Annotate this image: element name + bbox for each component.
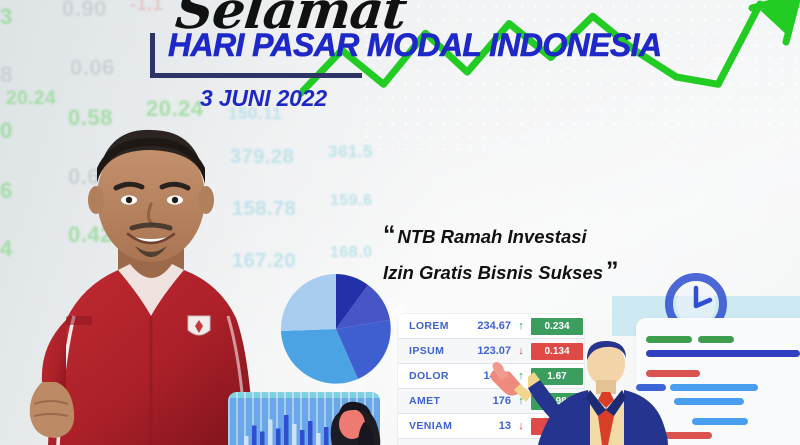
background-number: 0 <box>0 118 13 144</box>
row-price: 123.07 <box>467 345 511 357</box>
mini-candle-bar <box>292 424 297 445</box>
background-number: 0.90 <box>62 0 107 22</box>
table-row[interactable]: LOREM234.67↑0.234 <box>398 314 584 339</box>
dashboard-bar <box>692 418 748 425</box>
dashboard-bar <box>664 432 712 439</box>
mini-candle-bar <box>276 429 281 445</box>
row-symbol: DOLOR <box>409 370 467 382</box>
background-number: -1.1 <box>130 0 163 15</box>
background-number: 159.6 <box>330 192 373 210</box>
person-illustration-businessman <box>528 338 668 445</box>
poster-canvas: 0.90-1.130.0680.58020.24150.110.66379.28… <box>0 0 800 445</box>
background-number: 361.5 <box>328 142 373 162</box>
quote-open-mark: “ <box>383 221 394 249</box>
mini-candle-bar <box>244 436 249 445</box>
row-price: 234.67 <box>467 320 511 332</box>
change-badge: 0.234 <box>531 318 583 335</box>
mini-candle-bar <box>252 426 257 445</box>
row-price: 13 <box>467 420 511 432</box>
row-symbol: IPSUM <box>409 345 467 357</box>
background-number: 8 <box>0 62 13 88</box>
background-number: 0.06 <box>70 55 115 81</box>
dashboard-bar <box>698 336 734 343</box>
dashboard-bar <box>670 384 758 391</box>
row-symbol: VENIAM <box>409 420 467 432</box>
event-date: 3 JUNI 2022 <box>200 85 327 112</box>
background-number: 6 <box>0 178 13 204</box>
dashboard-bar <box>646 350 800 357</box>
background-number: 3 <box>0 4 13 30</box>
quote-line-2: Izin Gratis Bisnis Sukses <box>383 262 603 283</box>
row-symbol: AMET <box>409 395 467 407</box>
background-number: 168.0 <box>330 244 373 262</box>
pointing-hand-icon <box>486 358 532 404</box>
background-number: 20.24 <box>146 96 204 122</box>
page-title: HARI PASAR MODAL INDONESIA <box>168 27 661 64</box>
mini-candle-bar <box>284 415 289 445</box>
mini-candle-bar <box>300 430 305 445</box>
tagline-quote: “NTB Ramah Investasi Izin Gratis Bisnis … <box>383 218 673 289</box>
trend-arrow-icon: ↑ <box>511 320 531 332</box>
quote-close-mark: ” <box>606 257 617 285</box>
mini-candle-bar <box>260 432 265 445</box>
dashboard-bar <box>674 398 744 405</box>
pie-chart <box>278 272 398 387</box>
row-symbol: LOREM <box>409 320 467 332</box>
background-number: 4 <box>0 236 13 262</box>
mini-candle-bar <box>308 421 313 445</box>
person-illustration-woman <box>318 392 390 445</box>
quote-line-1: NTB Ramah Investasi <box>398 226 587 247</box>
background-number: 20.24 <box>6 88 56 110</box>
mini-candle-bar <box>268 420 273 445</box>
